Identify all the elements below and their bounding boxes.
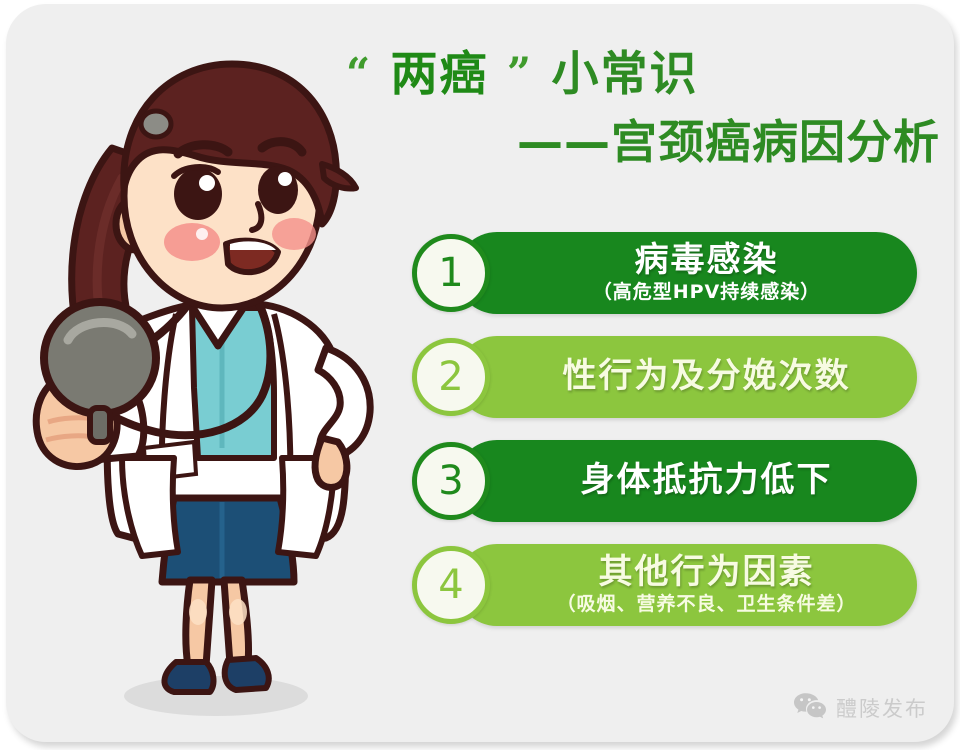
cause-text-4: 其他行为因素 （吸烟、营养不良、卫生条件差） <box>556 555 856 615</box>
cause-number-2: 2 <box>412 338 490 416</box>
coat-panel-left <box>122 458 178 556</box>
cause-subtitle-4: （吸烟、营养不良、卫生条件差） <box>556 595 856 615</box>
cause-title-1: 病毒感染 <box>593 243 821 279</box>
title-line-1-tail: 小常识 <box>551 47 698 102</box>
cause-subtitle-1: （高危型HPV持续感染） <box>593 283 821 303</box>
eye-left <box>174 168 222 220</box>
poster-root: “ 两癌 ” 小常识 ——宫颈癌病因分析 病毒感染 （高危型HPV持续感染） 1 <box>0 0 960 750</box>
chestpiece-stem <box>90 408 110 442</box>
cheek-left <box>164 223 220 261</box>
eye-left-glint <box>199 175 215 191</box>
cause-text-3: 身体抵抗力低下 <box>581 463 833 499</box>
title-line-2: ——宫颈癌病因分析 <box>336 116 946 169</box>
cause-bar-2[interactable]: 性行为及分娩次数 <box>456 336 917 418</box>
watermark: 醴陵发布 <box>793 692 928 724</box>
cause-title-2: 性行为及分娩次数 <box>563 359 851 395</box>
cause-number-1: 1 <box>412 234 490 312</box>
cause-title-3: 身体抵抗力低下 <box>581 463 833 499</box>
hair-tie <box>141 111 171 137</box>
cause-item-1[interactable]: 病毒感染 （高危型HPV持续感染） 1 <box>412 232 917 314</box>
cause-text-2: 性行为及分娩次数 <box>563 359 851 395</box>
cause-item-4[interactable]: 其他行为因素 （吸烟、营养不良、卫生条件差） 4 <box>412 544 917 626</box>
cause-bar-3[interactable]: 身体抵抗力低下 <box>456 440 917 522</box>
cause-text-1: 病毒感染 （高危型HPV持续感染） <box>593 243 821 303</box>
hand-on-hip <box>315 438 347 488</box>
quote-open: “ <box>346 48 372 97</box>
quote-close: ” <box>507 48 533 97</box>
skirt <box>162 498 294 582</box>
female-doctor-illustration <box>26 28 386 728</box>
title-block: “ 两癌 ” 小常识 ——宫颈癌病因分析 <box>336 48 946 169</box>
cause-bar-4[interactable]: 其他行为因素 （吸烟、营养不良、卫生条件差） <box>456 544 917 626</box>
cause-number-4: 4 <box>412 546 490 624</box>
cause-title-4: 其他行为因素 <box>556 555 856 591</box>
cause-item-2[interactable]: 性行为及分娩次数 2 <box>412 336 917 418</box>
shoe-right <box>225 658 269 690</box>
title-line-1: “ 两癌 ” 小常识 <box>336 48 946 102</box>
cause-bar-1[interactable]: 病毒感染 （高危型HPV持续感染） <box>456 232 917 314</box>
knee-highlight-right <box>229 599 247 625</box>
cause-list: 病毒感染 （高危型HPV持续感染） 1 性行为及分娩次数 2 身体抵抗力低下 <box>412 232 917 626</box>
knee-highlight-left <box>189 599 207 625</box>
cheek-left-glint <box>196 228 208 240</box>
cause-number-3: 3 <box>412 442 490 520</box>
eye-right <box>258 166 298 214</box>
watermark-text: 醴陵发布 <box>836 693 928 723</box>
poster-card: “ 两癌 ” 小常识 ——宫颈癌病因分析 病毒感染 （高危型HPV持续感染） 1 <box>6 4 954 742</box>
wechat-icon <box>793 692 827 724</box>
eye-right-glint <box>278 172 292 186</box>
cheek-right <box>272 218 316 250</box>
cause-item-3[interactable]: 身体抵抗力低下 3 <box>412 440 917 522</box>
title-keyword: 两癌 <box>391 47 489 102</box>
shoe-left <box>164 662 213 692</box>
